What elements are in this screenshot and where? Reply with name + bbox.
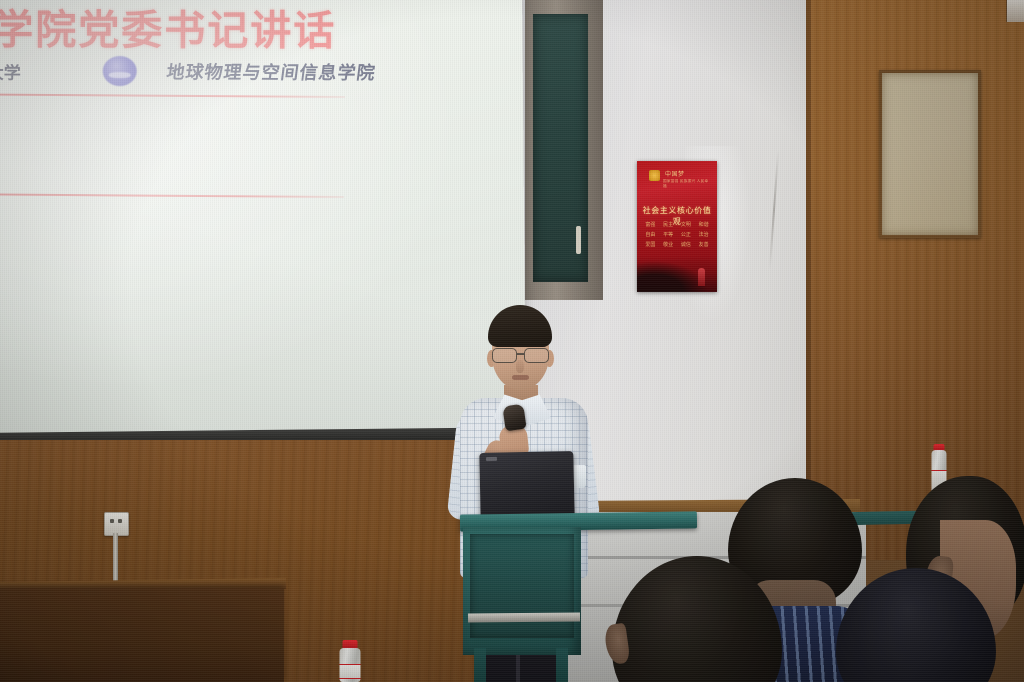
- chalkboard-slider-handle[interactable]: [576, 226, 581, 254]
- bottle-label: [340, 664, 361, 679]
- front-desk: [0, 588, 284, 682]
- laptop-brand-logo-icon: [486, 457, 497, 461]
- poster-value: 爱国: [642, 241, 659, 248]
- speaker-nose: [516, 360, 524, 373]
- poster-value: 诚信: [678, 241, 695, 248]
- handheld-microphone-icon[interactable]: [502, 404, 526, 432]
- eyeglass-lens-right: [524, 348, 549, 363]
- poster-value: 自由: [642, 231, 659, 238]
- poster-value: 法治: [695, 231, 712, 238]
- lecture-podium-recess: [470, 534, 574, 638]
- wall-seam: [806, 0, 811, 560]
- poster-illustration: [637, 256, 717, 292]
- wall-notice-panel: [879, 70, 981, 238]
- poster-subheading: 国家富强 民族振兴 人民幸福: [663, 179, 711, 189]
- ceiling-light-fixture-icon: [1006, 0, 1024, 22]
- poster-value: 友善: [695, 241, 712, 248]
- socialist-core-values-poster: 中国梦 国家富强 民族振兴 人民幸福 社会主义核心价值观 富强 民主 文明 和谐…: [637, 161, 717, 292]
- poster-value: 富强: [642, 221, 659, 228]
- poster-values-grid: 富强 民主 文明 和谐 自由 平等 公正 法治 爱国 敬业 诚信 友善: [642, 221, 712, 248]
- lecture-podium-leg: [474, 648, 486, 682]
- poster-value: 公正: [678, 231, 695, 238]
- slide-footer: 大学 地球物理与空间信息学院: [0, 56, 433, 88]
- slide-rule-bottom: [0, 194, 344, 198]
- lecture-podium-shelf: [468, 613, 580, 623]
- lecture-podium-leg: [556, 648, 568, 682]
- slide-rule-top: [0, 94, 345, 98]
- speaker-mouth: [512, 375, 529, 380]
- lecture-hall-photo: 中国梦 国家富强 民族振兴 人民幸福 社会主义核心价值观 富强 民主 文明 和谐…: [0, 0, 1024, 682]
- poster-heading: 中国梦: [665, 169, 711, 178]
- eyeglasses-icon: [491, 348, 550, 361]
- presenter-laptop-lid[interactable]: [479, 451, 574, 521]
- slide-university-name: 大学: [0, 58, 21, 83]
- eyeglass-lens-left: [492, 348, 517, 363]
- speaker-hair: [488, 305, 552, 347]
- poster-value: 和谐: [695, 221, 712, 228]
- water-bottle: [335, 640, 365, 682]
- slide-college-name: 地球物理与空间信息学院: [165, 58, 377, 85]
- poster-value: 民主: [660, 221, 677, 228]
- university-seal-logo-icon: [103, 56, 137, 86]
- poster-value: 平等: [660, 231, 677, 238]
- party-emblem-icon: [649, 170, 660, 181]
- poster-value: 敬业: [660, 241, 677, 248]
- poster-value: 文明: [678, 221, 695, 228]
- slide-title: 学院党委书记讲话: [0, 0, 412, 57]
